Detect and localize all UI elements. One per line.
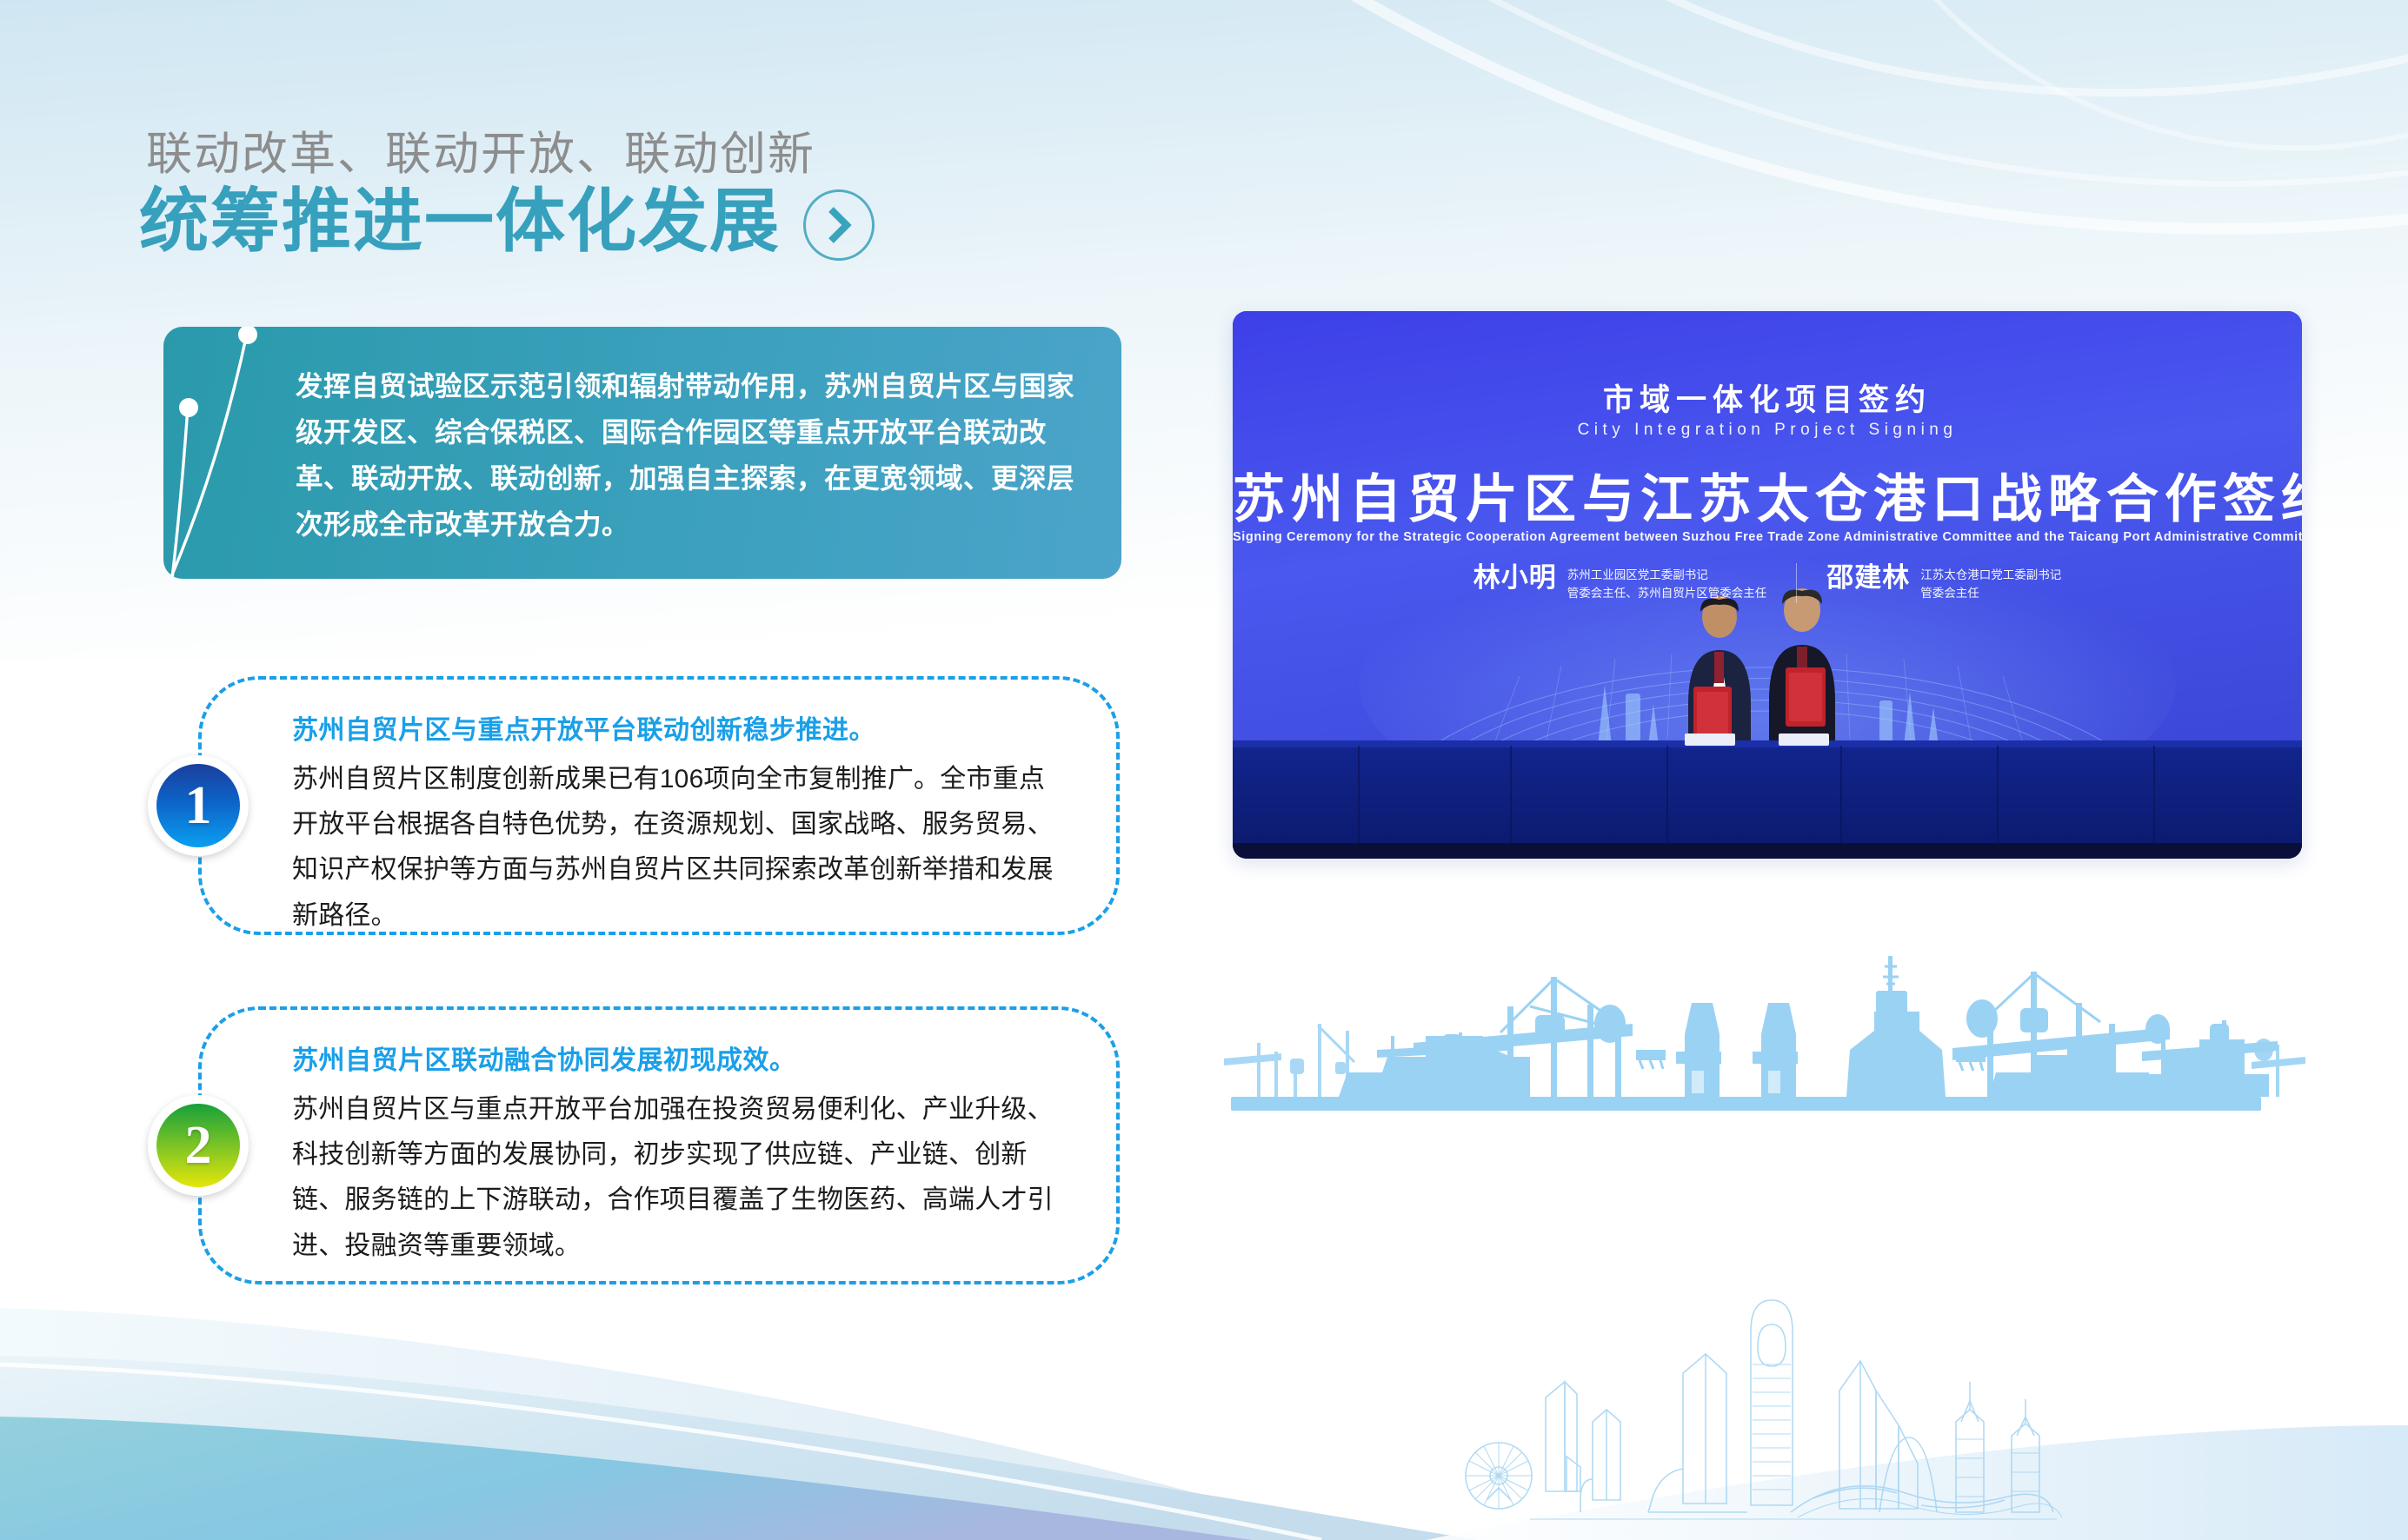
info-card-2: 2 苏州自贸片区联动融合协同发展初现成效。 苏州自贸片区与重点开放平台加强在投资… <box>198 1006 1120 1284</box>
card-title: 苏州自贸片区与重点开放平台联动创新稳步推进。 <box>292 711 1071 750</box>
card-text: 苏州自贸片区与重点开放平台加强在投资贸易便利化、产业升级、科技创新等方面的发展协… <box>292 1087 1071 1269</box>
signer-title: 江苏太仓港口党工委副书记 管委会主任 <box>1920 563 2061 603</box>
page-kicker: 联动改革、联动开放、联动创新 <box>146 117 815 183</box>
card-number: 1 <box>156 764 240 847</box>
page-title-row: 统筹推进一体化发展 <box>139 183 875 261</box>
card-number: 2 <box>156 1104 240 1187</box>
page-title: 统筹推进一体化发展 <box>139 185 781 258</box>
signer-name: 邵建林 <box>1826 563 1910 593</box>
signer-title-line1: 江苏太仓港口党工委副书记 <box>1920 567 2061 585</box>
signer-title-line2: 管委会主任 <box>1920 585 2061 603</box>
banner-title-cn: 市域一体化项目签约 <box>1233 375 2302 420</box>
card-number-badge: 2 <box>148 1095 249 1196</box>
card-title: 苏州自贸片区联动融合协同发展初现成效。 <box>292 1041 1071 1080</box>
signer-title-line2: 管委会主任、苏州自贸片区管委会主任 <box>1567 585 1767 603</box>
suzhou-city-skyline-illustration <box>1434 1251 2217 1538</box>
signer-title: 苏州工业园区党工委副书记 管委会主任、苏州自贸片区管委会主任 <box>1567 563 1767 603</box>
card-text: 苏州自贸片区制度创新成果已有106项向全市复制推广。全市重点开放平台根据各自特色… <box>292 757 1071 939</box>
intro-callout-box: 发挥自贸试验区示范引领和辐射带动作用，苏州自贸片区与国家级开发区、综合保税区、国… <box>163 327 1121 579</box>
banner-title-en: City Integration Project Signing <box>1233 421 2302 440</box>
intro-text: 发挥自贸试验区示范引领和辐射带动作用，苏州自贸片区与国家级开发区、综合保税区、国… <box>296 363 1083 548</box>
port-cranes-ships-illustration <box>1207 940 2328 1132</box>
banner-subject-cn: 苏州自贸片区与江苏太仓港口战略合作签约 <box>1233 457 2302 533</box>
card-number-badge: 1 <box>148 755 249 856</box>
signer-title-line1: 苏州工业园区党工委副书记 <box>1567 567 1767 585</box>
signer-item: 邵建林 江苏太仓港口党工委副书记 管委会主任 <box>1796 563 2091 603</box>
banner-subject-en: Signing Ceremony for the Strategic Coope… <box>1233 530 2302 544</box>
info-card-1: 1 苏州自贸片区与重点开放平台联动创新稳步推进。 苏州自贸片区制度创新成果已有1… <box>198 676 1120 935</box>
signer-item: 林小明 苏州工业园区党工委副书记 管委会主任、苏州自贸片区管委会主任 <box>1444 563 1797 603</box>
chevron-right-icon[interactable] <box>803 189 875 261</box>
signer-name: 林小明 <box>1473 563 1557 593</box>
signing-ceremony-photo: 市域一体化项目签约 City Integration Project Signi… <box>1233 311 2302 859</box>
signer-list: 林小明 苏州工业园区党工委副书记 管委会主任、苏州自贸片区管委会主任 邵建林 江… <box>1233 563 2302 603</box>
